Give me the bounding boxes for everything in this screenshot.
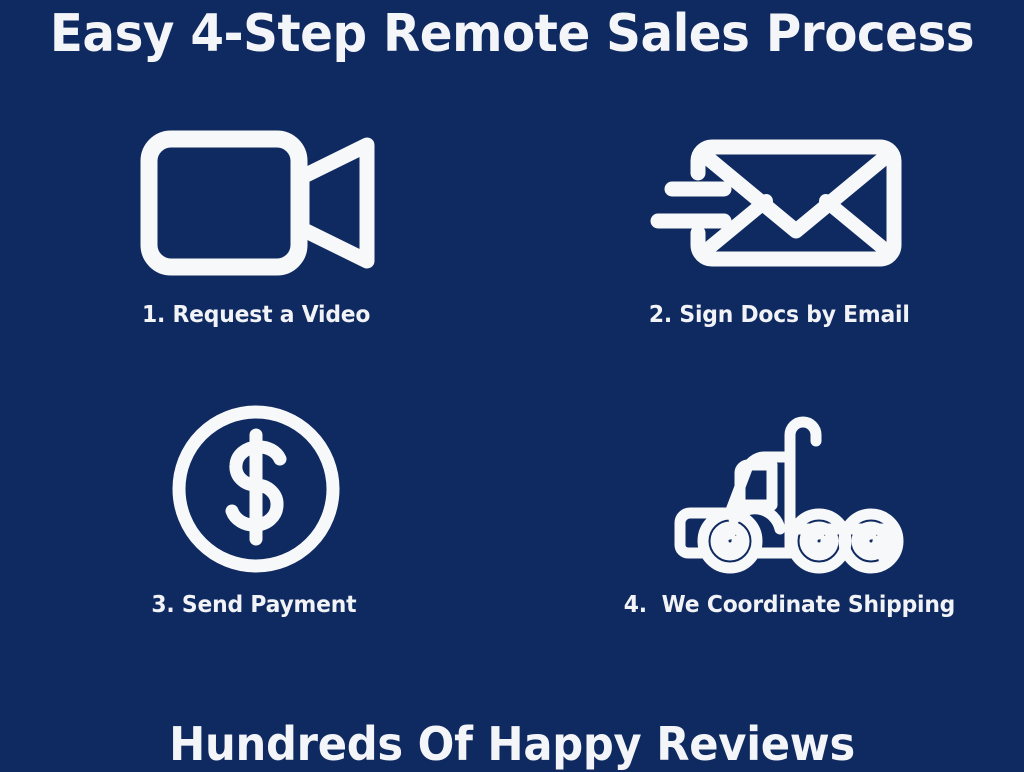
steps-grid: 1. Request a Video (0, 118, 1024, 678)
step-1-icon-wrap (0, 118, 515, 288)
page-title: Easy 4-Step Remote Sales Process (36, 4, 988, 64)
step-4-icon-wrap (490, 398, 1024, 580)
infographic-poster: Easy 4-Step Remote Sales Process 1. Requ… (0, 0, 1024, 768)
semi-truck-icon (668, 401, 912, 577)
step-1-label: 1. Request a Video (142, 302, 370, 328)
step-2-icon-wrap (501, 118, 1024, 288)
footer-tagline: Hundreds Of Happy Reviews (31, 716, 994, 772)
step-item-4: 4. We Coordinate Shipping (512, 398, 1024, 678)
step-4-label: 4. We Coordinate Shipping (623, 592, 954, 618)
step-2-label: 2. Sign Docs by Email (649, 302, 910, 328)
email-envelope-icon (650, 127, 908, 279)
step-3-label: 3. Send Payment (152, 592, 357, 618)
step-item-1: 1. Request a Video (0, 118, 512, 398)
step-3-icon-wrap (0, 398, 512, 580)
step-item-2: 2. Sign Docs by Email (512, 118, 1024, 398)
video-camera-icon (139, 129, 379, 277)
step-item-3: 3. Send Payment (0, 398, 512, 678)
dollar-coin-icon (168, 401, 344, 577)
